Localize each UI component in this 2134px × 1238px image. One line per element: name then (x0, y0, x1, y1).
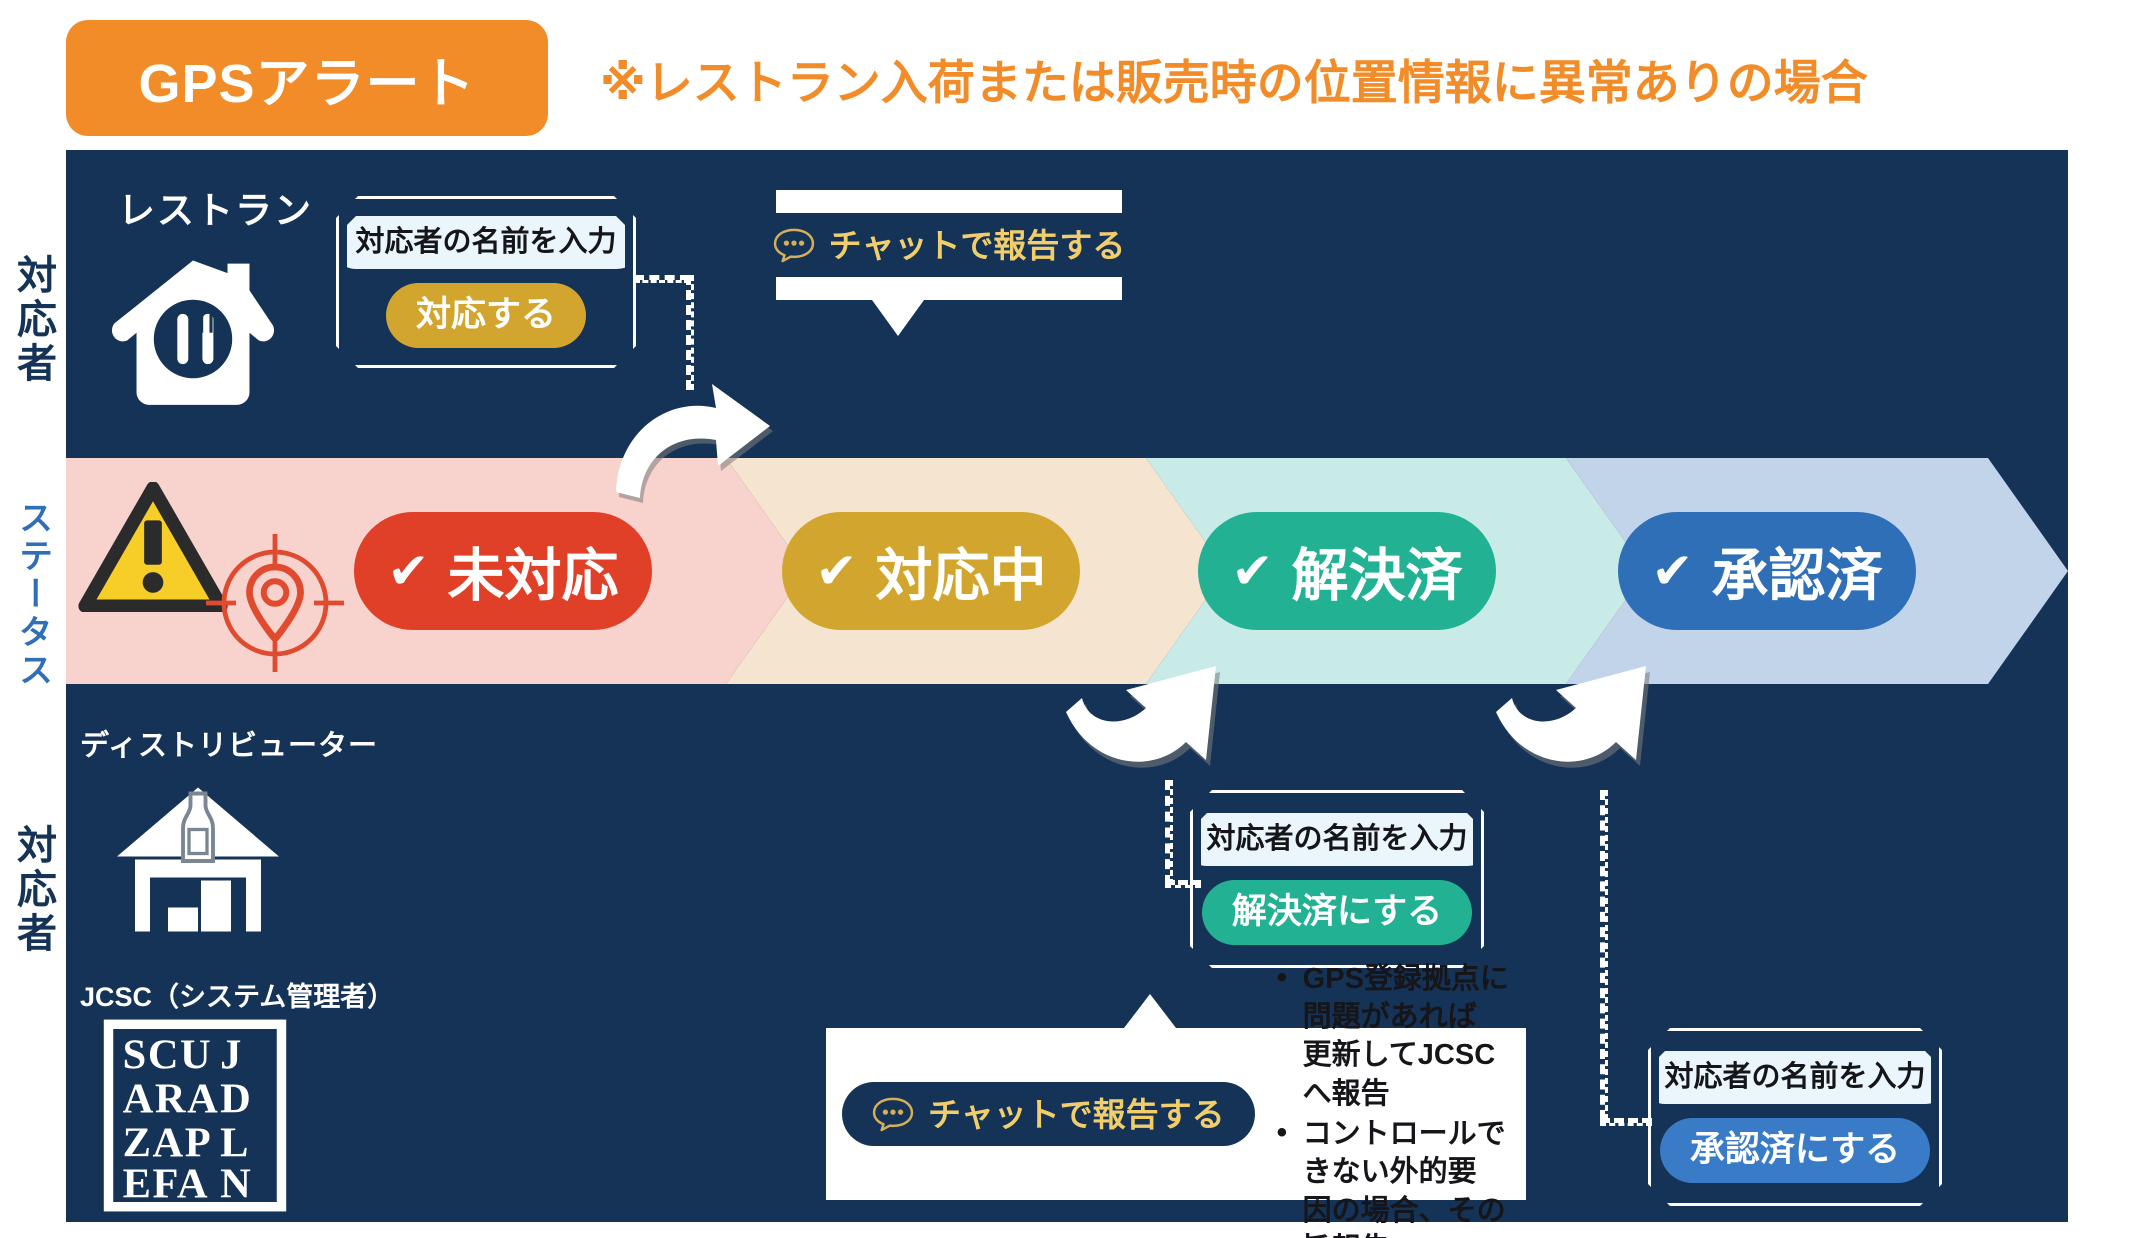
resolve-button[interactable]: 解決済にする (1202, 880, 1472, 944)
chat-bubble-icon (872, 1096, 914, 1132)
respond-button[interactable]: 対応する (386, 283, 586, 347)
actor-label-distributor: ディストリビューター (80, 722, 378, 764)
callout-tail (872, 300, 924, 336)
chat-callout-bottom: チャットで報告する GPS登録拠点に問題があれば 更新してJCSCへ報告 コント… (826, 1028, 1526, 1200)
card-content: 対応者の名前を入力 解決済にする (1201, 801, 1473, 957)
callout-tail (1124, 994, 1176, 1028)
svg-text:EFA: EFA (123, 1160, 209, 1207)
status-pill-inprogress[interactable]: ✔ 対応中 (782, 512, 1080, 630)
report-bullet-list: GPS登録拠点に問題があれば 更新してJCSCへ報告 コントロールできない外的要… (1273, 958, 1510, 1238)
rail-label-responder-bottom: 対応者 (0, 760, 66, 1020)
action-card-resolve: 対応者の名前を入力 解決済にする (1190, 790, 1484, 968)
status-pill-label: 未対応 (447, 530, 618, 612)
report-bullet-item: コントロールできない外的要 因の場合、その旨報告 (1273, 1115, 1510, 1238)
chat-bubble-icon (773, 227, 815, 263)
connector-respond-to-inprogress (634, 275, 690, 283)
status-pill-resolved[interactable]: ✔ 解決済 (1198, 512, 1496, 630)
flow-arrow-restaurant-to-inprogress (612, 380, 812, 510)
chat-report-button-bottom[interactable]: チャットで報告する (842, 1082, 1255, 1146)
card-content: 対応者の名前を入力 対応する (347, 207, 625, 357)
action-card-approve: 対応者の名前を入力 承認済にする (1648, 1028, 1942, 1206)
chat-report-label: チャットで報告する (829, 229, 1126, 262)
flow-arrow-distributor-to-resolved (1060, 650, 1250, 790)
rail-label-responder-top: 対応者 (0, 190, 66, 450)
responder-name-input[interactable]: 対応者の名前を入力 (1639, 1051, 1952, 1104)
connector-approve-to-approved-h (1600, 1118, 1652, 1126)
svg-text:J: J (220, 1031, 243, 1078)
action-card-respond: 対応者の名前を入力 対応する (336, 196, 636, 368)
gps-crosshair-pin-icon (200, 528, 350, 678)
chat-callout-top: チャットで報告する (776, 190, 1122, 300)
svg-text:ARA: ARA (123, 1075, 220, 1122)
report-bullet-item: GPS登録拠点に問題があれば 更新してJCSCへ報告 (1273, 960, 1510, 1113)
svg-text:N: N (220, 1160, 252, 1207)
flow-arrow-jcsc-to-approved (1490, 650, 1680, 790)
restaurant-house-icon (98, 248, 288, 408)
check-icon: ✔ (1232, 546, 1274, 596)
gps-alert-flow-diagram: GPSアラート ※レストラン入荷または販売時の位置情報に異常ありの場合 対応者 … (0, 0, 2134, 1238)
svg-text:D: D (220, 1075, 252, 1122)
status-pill-label: 承認済 (1711, 530, 1882, 612)
responder-name-input[interactable]: 対応者の名前を入力 (1181, 813, 1494, 866)
chat-report-label: チャットで報告する (928, 1098, 1225, 1131)
chat-report-button-top[interactable]: チャットで報告する (743, 213, 1156, 277)
check-icon: ✔ (816, 546, 858, 596)
responder-name-input[interactable]: 対応者の名前を入力 (330, 216, 643, 269)
gps-alert-badge: GPSアラート (66, 20, 548, 136)
actor-label-restaurant: レストラン (118, 180, 313, 234)
header-note: ※レストラン入荷または販売時の位置情報に異常ありの場合 (600, 36, 1868, 120)
connector-resolve-to-resolved-h (1165, 880, 1201, 888)
approve-button[interactable]: 承認済にする (1660, 1118, 1930, 1182)
connector-resolve-to-resolved-v (1165, 780, 1173, 885)
actor-label-jcsc: JCSC（システム管理者） (80, 975, 394, 1014)
status-pill-approved[interactable]: ✔ 承認済 (1618, 512, 1916, 630)
status-pill-label: 対応中 (875, 530, 1046, 612)
warehouse-bottle-icon (108, 770, 288, 940)
rail-label-status: ステータス (0, 470, 66, 720)
check-icon: ✔ (388, 546, 430, 596)
connector-approve-to-approved-v (1600, 790, 1608, 1120)
connector-respond-to-inprogress-v (686, 275, 694, 390)
card-content: 対応者の名前を入力 承認済にする (1659, 1039, 1931, 1195)
gps-alert-badge-label: GPSアラート (138, 39, 475, 118)
status-pill-label: 解決済 (1291, 530, 1462, 612)
square-stamp-logo-icon: SCU ARA ZAP EFA J D L N (100, 1018, 290, 1213)
check-icon: ✔ (1652, 546, 1694, 596)
svg-text:SCU: SCU (123, 1031, 213, 1078)
status-pill-unhandled[interactable]: ✔ 未対応 (354, 512, 652, 630)
